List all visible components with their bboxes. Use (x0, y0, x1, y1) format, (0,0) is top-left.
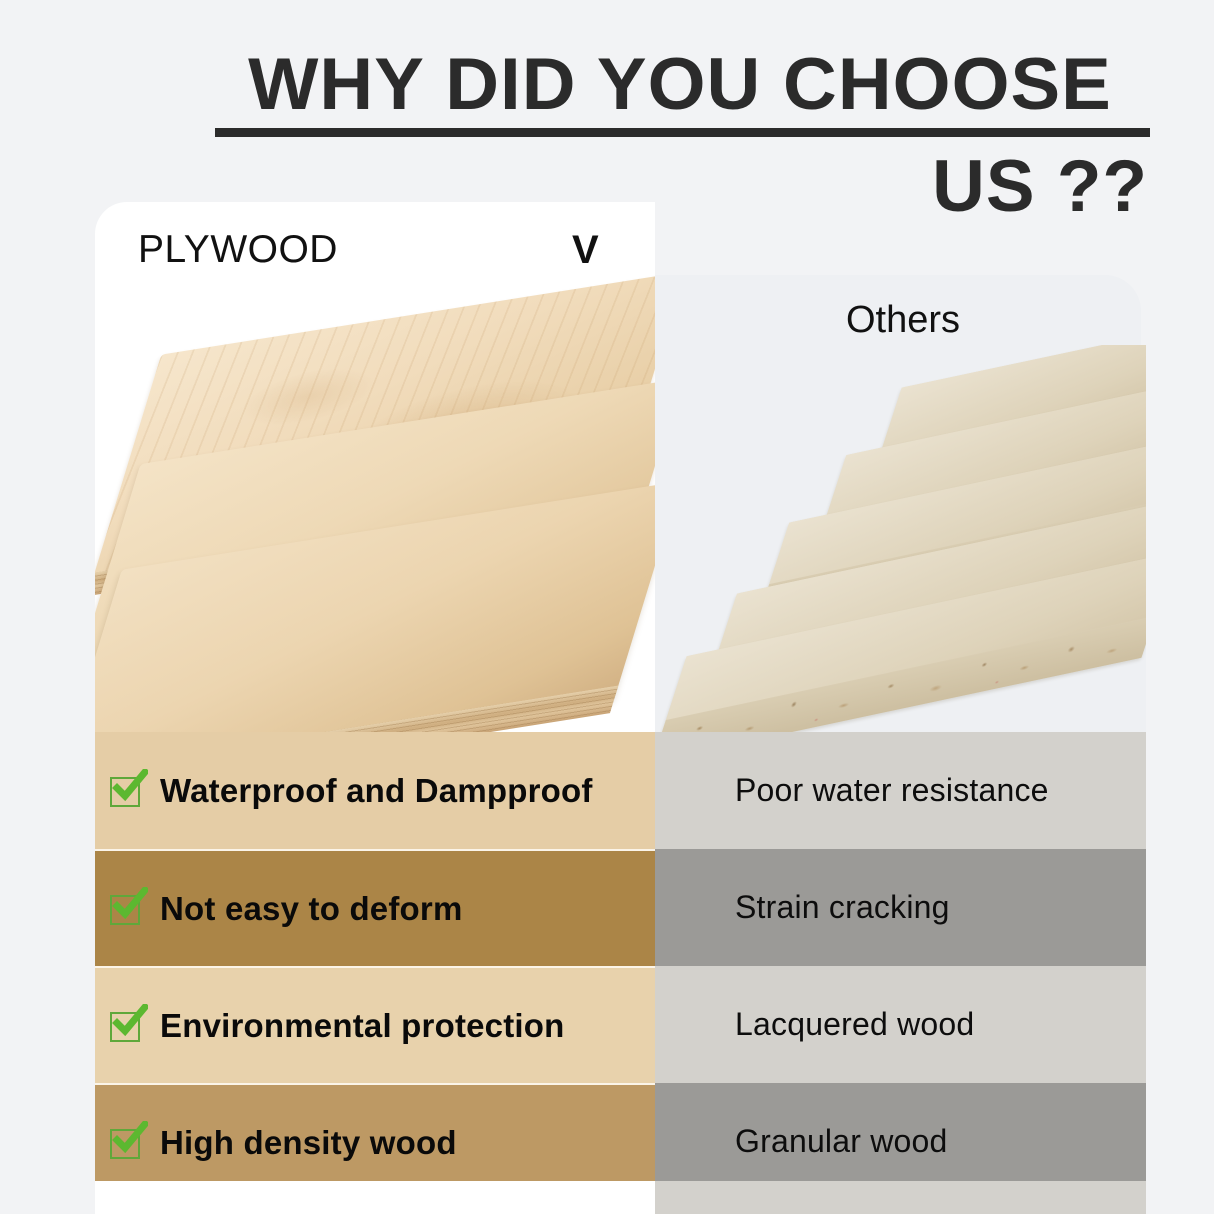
versus-mark: V (572, 228, 599, 273)
headline-underline (215, 128, 1150, 137)
others-drawback-cell: Poor water resistance (655, 732, 1146, 849)
checkbox-checked-icon (110, 892, 144, 926)
comparison-row: Waterproof and Dampproof Poor water resi… (95, 732, 1146, 849)
checkbox-checked-icon (110, 774, 144, 808)
comparison-row: Environmental protection Lacquered wood (95, 966, 1146, 1083)
plywood-photo (95, 260, 655, 732)
plywood-label: PLYWOOD (138, 228, 338, 272)
feature-label: High density wood (160, 1124, 457, 1162)
feature-label: Environmental protection (160, 1007, 565, 1045)
comparison-rows: Waterproof and Dampproof Poor water resi… (95, 732, 1146, 1200)
checkbox-checked-icon (110, 1009, 144, 1043)
others-drawback-cell: Lacquered wood (655, 966, 1146, 1083)
tail-left-band (95, 1181, 655, 1214)
plywood-feature-cell: Environmental protection (95, 966, 655, 1083)
row-band-continuation (95, 1181, 1146, 1214)
headline-block: WHY DID YOU CHOOSE US ?? (0, 0, 1214, 232)
drawback-label: Poor water resistance (735, 772, 1049, 809)
others-photo (660, 345, 1146, 732)
checkbox-checked-icon (110, 1126, 144, 1160)
plywood-feature-cell: Not easy to deform (95, 849, 655, 966)
comparison-row: Not easy to deform Strain cracking (95, 849, 1146, 966)
others-drawback-cell: Strain cracking (655, 849, 1146, 966)
drawback-label: Granular wood (735, 1123, 948, 1160)
plywood-feature-cell: Waterproof and Dampproof (95, 732, 655, 849)
headline-line-1: WHY DID YOU CHOOSE (201, 48, 1160, 121)
drawback-label: Lacquered wood (735, 1006, 974, 1043)
feature-label: Not easy to deform (160, 890, 463, 928)
drawback-label: Strain cracking (735, 889, 950, 926)
feature-label: Waterproof and Dampproof (160, 772, 593, 810)
others-label: Others (660, 299, 1146, 342)
tail-right-band (655, 1181, 1146, 1214)
